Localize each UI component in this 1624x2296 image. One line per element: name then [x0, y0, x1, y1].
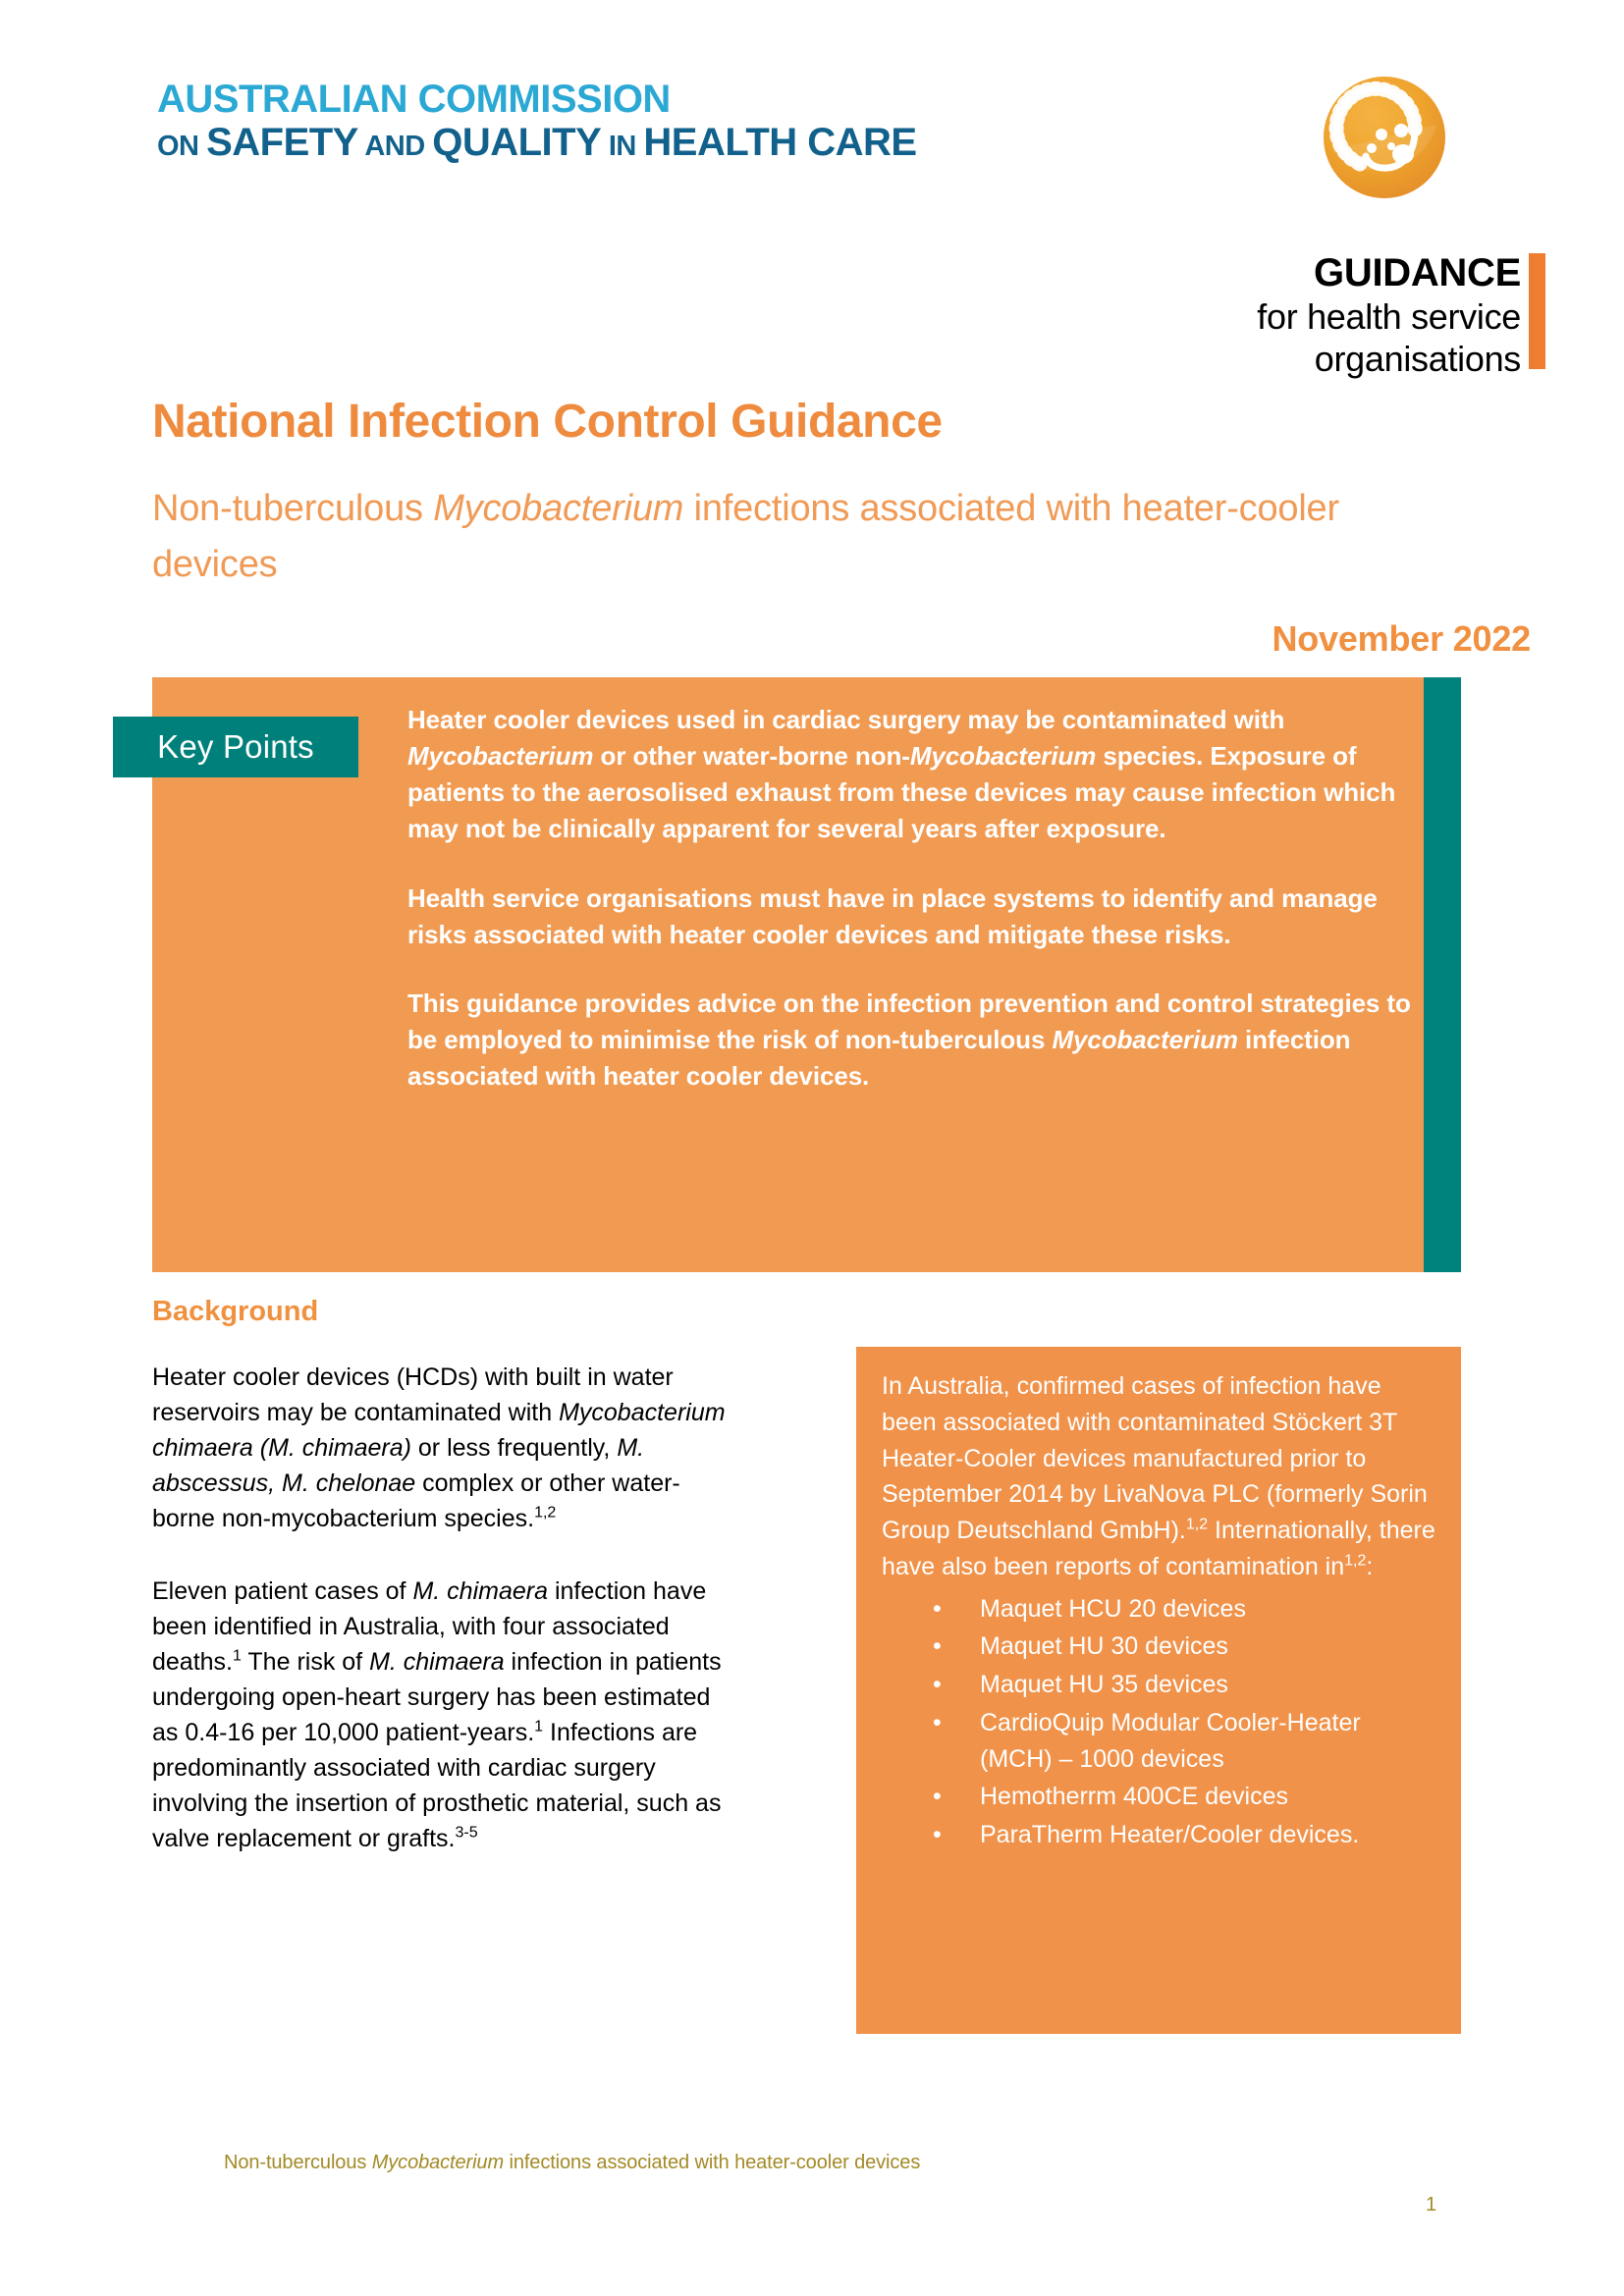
guidance-accent-bar: [1529, 253, 1545, 369]
key-points-paragraph: Heater cooler devices used in cardiac su…: [407, 702, 1419, 847]
brand-in: IN: [601, 131, 643, 162]
publication-date: November 2022: [1272, 618, 1531, 660]
brand-line-2: ON SAFETY AND QUALITY IN HEALTH CARE: [157, 122, 1237, 163]
bg2-sup1: 1: [233, 1648, 242, 1665]
side-sup1: 1,2: [1186, 1517, 1208, 1533]
device-list: Maquet HCU 20 devices Maquet HU 30 devic…: [882, 1591, 1435, 1853]
subtitle-part-1: Non-tuberculous: [152, 488, 433, 529]
bg2-s3: The risk of: [242, 1648, 369, 1676]
page-title: National Infection Control Guidance: [152, 395, 943, 449]
subtitle-italic-term: Mycobacterium: [433, 488, 683, 529]
microbe-badge-icon: [1321, 74, 1448, 201]
key-points-body: Heater cooler devices used in cardiac su…: [407, 702, 1419, 1095]
brand-line-1: AUSTRALIAN COMMISSION: [157, 79, 1237, 120]
brand-safety: SAFETY: [206, 121, 358, 164]
side-box-intro: In Australia, confirmed cases of infecti…: [882, 1368, 1435, 1585]
kp1-em1: Mycobacterium: [407, 741, 593, 771]
list-item: ParaTherm Heater/Cooler devices.: [882, 1817, 1435, 1853]
bg1-sup1: 1,2: [534, 1505, 556, 1522]
kp1-em2: Mycobacterium: [910, 741, 1096, 771]
bg2-s1: Eleven patient cases of: [152, 1577, 412, 1605]
background-paragraph-2: Eleven patient cases of M. chimaera infe…: [152, 1574, 741, 1856]
side-sup2: 1,2: [1344, 1552, 1366, 1569]
kp1-seg1: Heater cooler devices used in cardiac su…: [407, 705, 1284, 734]
document-page: AUSTRALIAN COMMISSION ON SAFETY AND QUAL…: [0, 0, 1624, 2296]
bg1-s2: or less frequently,: [411, 1434, 617, 1462]
guidance-header: GUIDANCE for health service organisation…: [1257, 250, 1521, 380]
bg2-i2: M. chimaera: [369, 1648, 505, 1676]
footer-s2: infections associated with heater-cooler…: [504, 2152, 920, 2173]
bg2-sup2: 1: [534, 1719, 543, 1735]
guidance-subtitle-line1: for health service: [1257, 296, 1521, 338]
kp1-seg2: or other water-borne non-: [593, 741, 909, 771]
footer-italic: Mycobacterium: [372, 2152, 504, 2173]
side-info-box: In Australia, confirmed cases of infecti…: [856, 1347, 1461, 2034]
commission-logo-text: AUSTRALIAN COMMISSION ON SAFETY AND QUAL…: [157, 79, 1237, 164]
brand-quality: QUALITY: [432, 121, 601, 164]
key-points-paragraph: This guidance provides advice on the inf…: [407, 986, 1419, 1095]
bg2-sup3: 3-5: [455, 1825, 477, 1842]
page-subtitle: Non-tuberculous Mycobacterium infections…: [152, 481, 1458, 593]
background-paragraph-1: Heater cooler devices (HCDs) with built …: [152, 1360, 741, 1536]
page-number: 1: [1426, 2194, 1436, 2216]
background-body: Heater cooler devices (HCDs) with built …: [152, 1360, 741, 1856]
brand-and: AND: [358, 131, 432, 162]
list-item: CardioQuip Modular Cooler-Heater (MCH) –…: [882, 1705, 1435, 1778]
bg2-i1: M. chimaera: [412, 1577, 548, 1605]
background-heading: Background: [152, 1296, 318, 1328]
key-points-badge-label: Key Points: [157, 728, 314, 766]
list-item: Maquet HU 35 devices: [882, 1667, 1435, 1703]
footer-title: Non-tuberculous Mycobacterium infections…: [224, 2152, 920, 2174]
key-points-accent-bar: [1424, 677, 1461, 1272]
brand-on: ON: [157, 131, 206, 162]
guidance-subtitle-line2: organisations: [1257, 339, 1521, 380]
guidance-title: GUIDANCE: [1257, 250, 1521, 296]
list-item: Maquet HCU 20 devices: [882, 1591, 1435, 1628]
footer-s1: Non-tuberculous: [224, 2152, 372, 2173]
brand-health-care: HEALTH CARE: [643, 121, 916, 164]
key-points-paragraph: Health service organisations must have i…: [407, 881, 1419, 953]
side-s3: :: [1366, 1553, 1373, 1580]
kp3-em1: Mycobacterium: [1052, 1025, 1237, 1054]
list-item: Maquet HU 30 devices: [882, 1629, 1435, 1665]
key-points-badge: Key Points: [113, 717, 358, 777]
list-item: Hemotherrm 400CE devices: [882, 1779, 1435, 1815]
kp2-seg1: Health service organisations must have i…: [407, 883, 1378, 949]
